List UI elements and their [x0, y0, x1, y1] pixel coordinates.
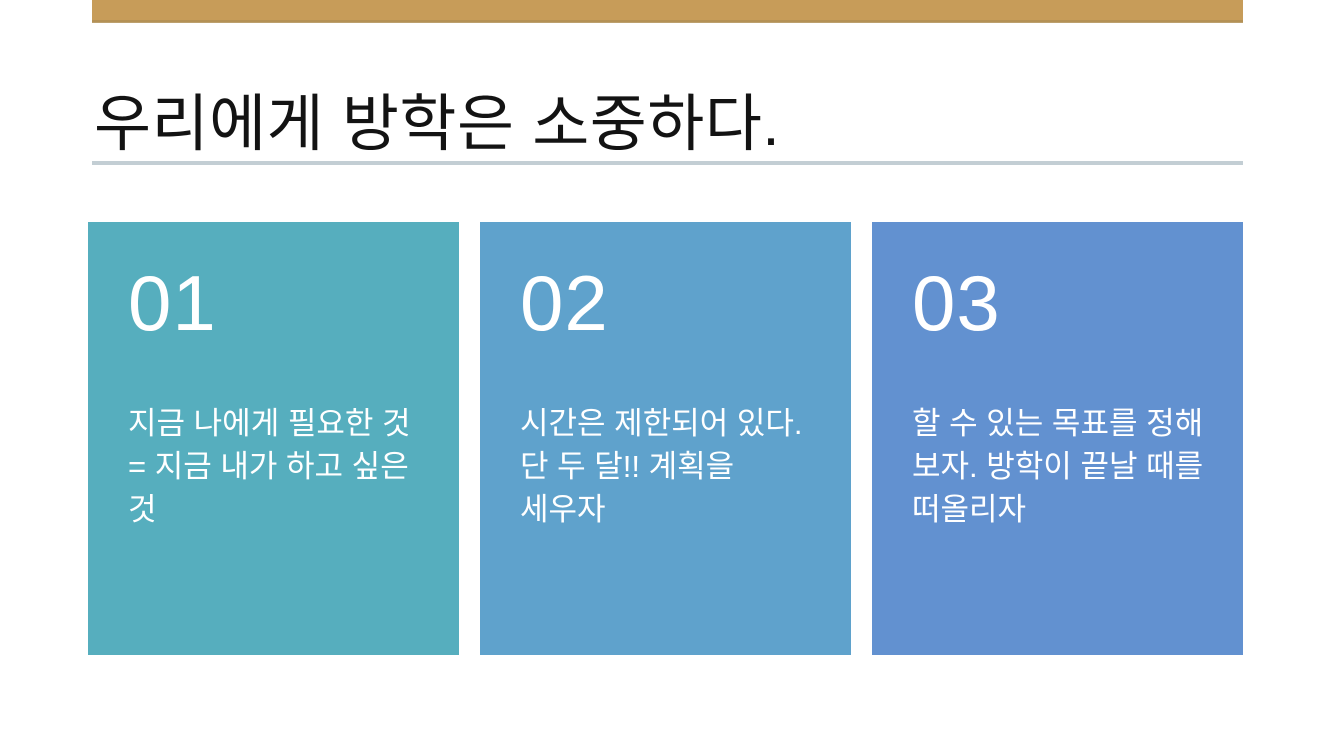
card-number-01: 01 — [128, 260, 425, 346]
title-divider — [92, 161, 1243, 165]
cards-row: 01 지금 나에게 필요한 것 = 지금 내가 하고 싶은 것 02 시간은 제… — [88, 222, 1243, 655]
card-number-03: 03 — [912, 260, 1209, 346]
slide-canvas: 우리에게 방학은 소중하다. 01 지금 나에게 필요한 것 = 지금 내가 하… — [0, 0, 1334, 750]
card-number-02: 02 — [520, 260, 817, 346]
top-accent-bar-shadow — [92, 20, 1243, 23]
info-card-01: 01 지금 나에게 필요한 것 = 지금 내가 하고 싶은 것 — [88, 222, 459, 655]
page-title: 우리에게 방학은 소중하다. — [94, 88, 1244, 162]
info-card-02: 02 시간은 제한되어 있다. 단 두 달!! 계획을 세우자 — [480, 222, 851, 655]
card-body-01: 지금 나에게 필요한 것 = 지금 내가 하고 싶은 것 — [128, 402, 425, 531]
card-body-03: 할 수 있는 목표를 정해 보자. 방학이 끝날 때를 떠올리자 — [912, 402, 1209, 531]
info-card-03: 03 할 수 있는 목표를 정해 보자. 방학이 끝날 때를 떠올리자 — [872, 222, 1243, 655]
top-accent-bar — [92, 0, 1243, 22]
card-body-02: 시간은 제한되어 있다. 단 두 달!! 계획을 세우자 — [520, 402, 817, 531]
